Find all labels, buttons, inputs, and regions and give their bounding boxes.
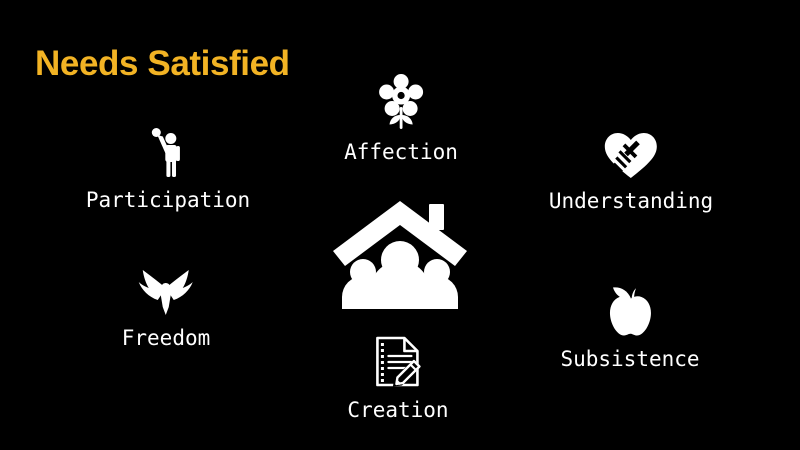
need-item-participation: Participation xyxy=(86,128,250,213)
need-label: Understanding xyxy=(549,188,713,214)
need-label: Freedom xyxy=(122,325,211,351)
need-item-freedom: Freedom xyxy=(122,268,211,351)
need-item-affection: Affection xyxy=(344,74,458,165)
apple-icon xyxy=(607,285,653,337)
notepad-pencil-icon xyxy=(373,336,423,388)
need-label: Subsistence xyxy=(560,346,699,372)
page-title: Needs Satisfied xyxy=(35,43,290,85)
eagle-icon xyxy=(138,268,194,316)
heart-handshake-icon xyxy=(604,131,658,179)
need-label: Affection xyxy=(344,139,458,165)
slide-canvas: Needs Satisfied xyxy=(0,0,800,450)
need-label: Participation xyxy=(86,187,250,213)
need-item-understanding: Understanding xyxy=(549,131,713,214)
need-item-subsistence: Subsistence xyxy=(560,285,699,372)
need-item-creation: Creation xyxy=(347,336,448,423)
flower-icon xyxy=(377,74,425,130)
person-raising-hand-icon xyxy=(147,128,189,178)
house-family-icon xyxy=(330,196,470,311)
need-label: Creation xyxy=(347,397,448,423)
